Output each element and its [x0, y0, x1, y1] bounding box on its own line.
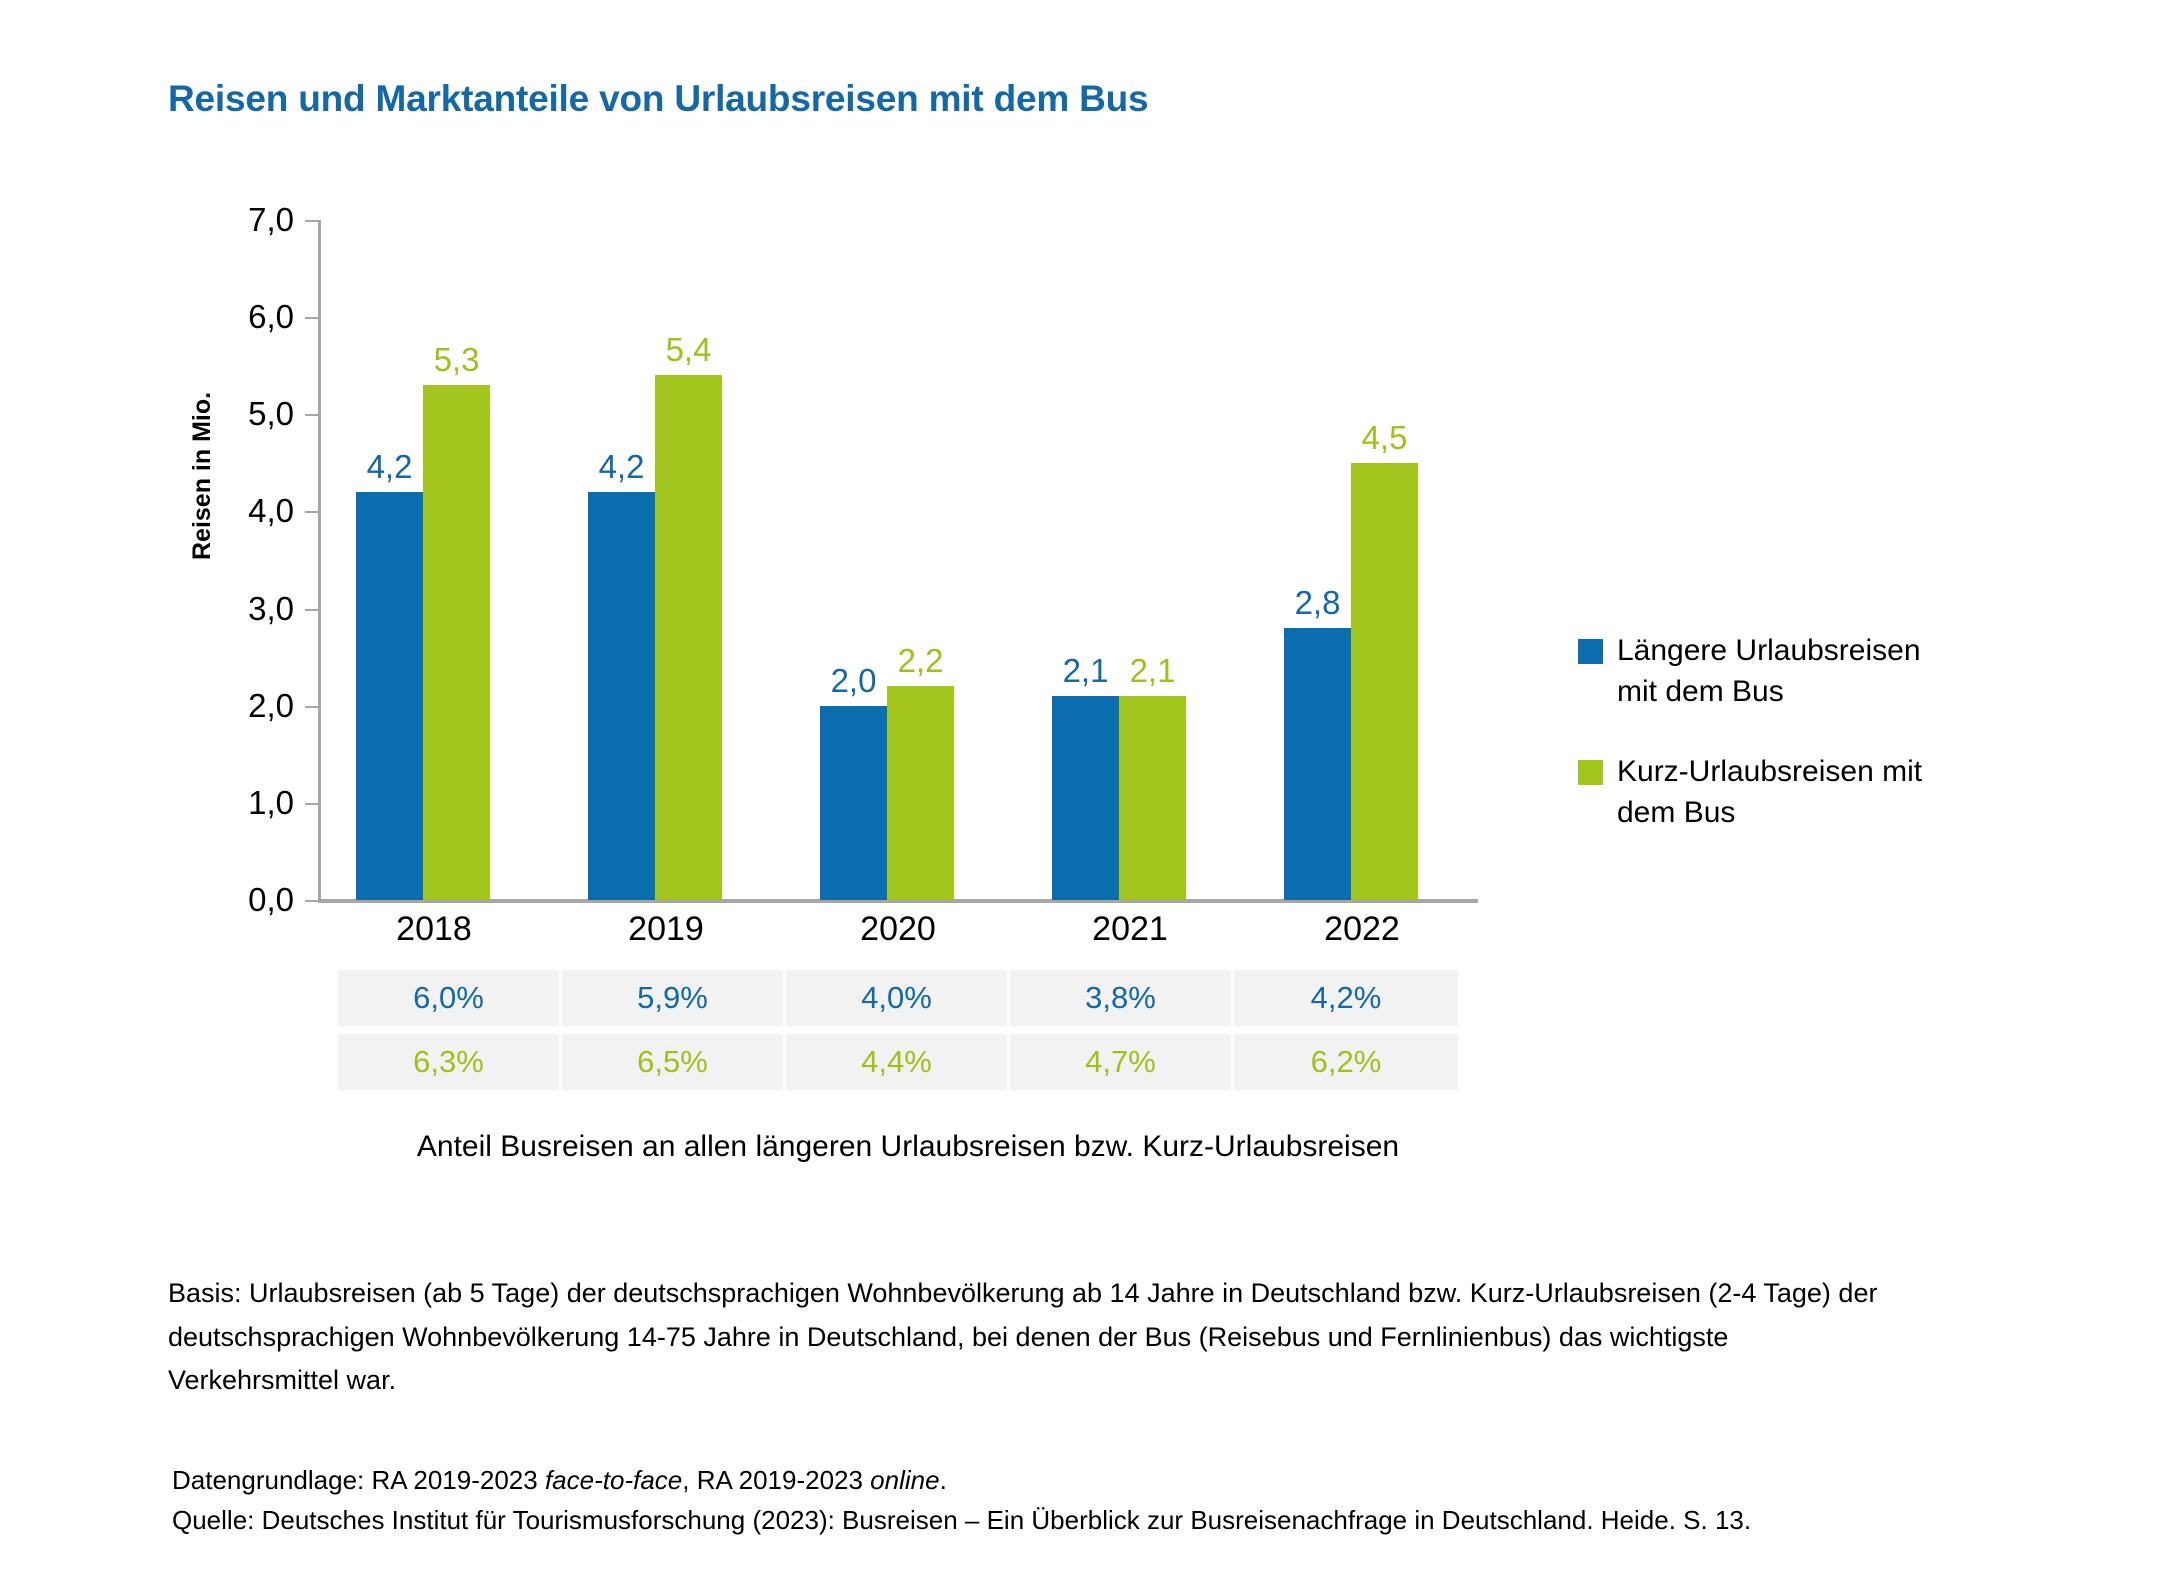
datengrundlage-mid: , RA 2019-2023 — [682, 1465, 870, 1495]
bar-value-label: 2,1 — [1119, 652, 1186, 690]
bar-value-label: 5,4 — [655, 331, 722, 369]
x-axis-label: 2018 — [318, 910, 550, 949]
table-row: 6,0%5,9%4,0%3,8%4,2% — [338, 970, 1458, 1026]
datengrundlage-prefix: Datengrundlage: RA 2019-2023 — [172, 1465, 545, 1495]
tick-mark — [305, 511, 318, 513]
bar[interactable]: 2,1 — [1052, 696, 1119, 900]
bar[interactable]: 2,2 — [887, 686, 954, 900]
chart-page: Reisen und Marktanteile von Urlaubsreise… — [0, 0, 2159, 1576]
legend-swatch-green-icon — [1578, 760, 1603, 785]
y-axis-tick-label: 7,0 — [248, 201, 294, 239]
legend-label-line-2: mit dem Bus — [1617, 671, 1921, 712]
tick-mark — [305, 414, 318, 416]
bar-value-label: 5,3 — [423, 341, 490, 379]
table-cell: 4,7% — [1010, 1034, 1234, 1090]
tick-mark — [305, 803, 318, 805]
bar-value-label: 2,8 — [1284, 584, 1351, 622]
legend-item[interactable]: Kurz-Urlaubsreisen mitdem Bus — [1578, 751, 1998, 834]
legend-label: Längere Urlaubsreisenmit dem Bus — [1617, 630, 1921, 713]
source-notes: Datengrundlage: RA 2019-2023 face-to-fac… — [172, 1460, 2072, 1541]
datengrundlage-italic-2: online — [870, 1465, 939, 1495]
y-axis-tick-label: 5,0 — [248, 395, 294, 433]
bar-value-label: 2,2 — [887, 642, 954, 680]
legend-label: Kurz-Urlaubsreisen mitdem Bus — [1617, 751, 1922, 834]
legend-label-line-1: Längere Urlaubsreisen — [1617, 630, 1921, 671]
datengrundlage-line: Datengrundlage: RA 2019-2023 face-to-fac… — [172, 1460, 2072, 1500]
tick-mark — [305, 220, 318, 222]
table-cell: 5,9% — [562, 970, 786, 1026]
bar[interactable]: 5,4 — [655, 375, 722, 900]
bar-group: 2,12,1 — [1014, 220, 1246, 900]
tick-mark — [305, 317, 318, 319]
legend-item[interactable]: Längere Urlaubsreisenmit dem Bus — [1578, 630, 1998, 713]
tick-mark — [305, 609, 318, 611]
table-row: 6,3%6,5%4,4%4,7%6,2% — [338, 1034, 1458, 1090]
table-caption: Anteil Busreisen an allen längeren Urlau… — [318, 1130, 1498, 1164]
table-cell: 4,4% — [786, 1034, 1010, 1090]
table-cell: 6,0% — [338, 970, 562, 1026]
page-title: Reisen und Marktanteile von Urlaubsreise… — [168, 78, 1148, 120]
bar[interactable]: 5,3 — [423, 385, 490, 900]
legend-label-line-1: Kurz-Urlaubsreisen mit — [1617, 751, 1922, 792]
x-axis-label: 2019 — [550, 910, 782, 949]
bar-group: 2,84,5 — [1246, 220, 1478, 900]
y-axis-tick-label: 1,0 — [248, 784, 294, 822]
chart-legend: Längere Urlaubsreisenmit dem BusKurz-Url… — [1578, 630, 1998, 872]
y-axis-title: Reisen in Mio. — [188, 392, 217, 560]
y-axis-tick-label: 2,0 — [248, 687, 294, 725]
bar-group: 4,25,4 — [550, 220, 782, 900]
bar-value-label: 2,1 — [1052, 652, 1119, 690]
basis-note: Basis: Urlaubsreisen (ab 5 Tage) der deu… — [168, 1272, 1888, 1403]
x-axis-label: 2020 — [782, 910, 1014, 949]
bar[interactable]: 2,1 — [1119, 696, 1186, 900]
table-cell: 4,0% — [786, 970, 1010, 1026]
table-cell: 6,3% — [338, 1034, 562, 1090]
table-cell: 3,8% — [1010, 970, 1234, 1026]
x-axis-label: 2021 — [1014, 910, 1246, 949]
bar-group: 2,02,2 — [782, 220, 1014, 900]
bar[interactable]: 2,0 — [820, 706, 887, 900]
tick-mark — [305, 706, 318, 708]
datengrundlage-italic-1: face-to-face — [545, 1465, 682, 1495]
table-cell: 4,2% — [1234, 970, 1458, 1026]
bar[interactable]: 4,2 — [356, 492, 423, 900]
bar[interactable]: 4,2 — [588, 492, 655, 900]
x-axis-label: 2022 — [1246, 910, 1478, 949]
market-share-table: 6,0%5,9%4,0%3,8%4,2%6,3%6,5%4,4%4,7%6,2% — [338, 970, 1458, 1098]
y-axis-tick-label: 3,0 — [248, 590, 294, 628]
y-axis-tick-label: 4,0 — [248, 492, 294, 530]
y-axis-tick-label: 0,0 — [248, 881, 294, 919]
quelle-line: Quelle: Deutsches Institut für Tourismus… — [172, 1500, 2072, 1540]
bar[interactable]: 4,5 — [1351, 463, 1418, 900]
datengrundlage-suffix: . — [940, 1465, 947, 1495]
bar-group: 4,25,3 — [318, 220, 550, 900]
bar-value-label: 4,5 — [1351, 419, 1418, 457]
y-axis-tick-label: 6,0 — [248, 298, 294, 336]
bar-value-label: 4,2 — [356, 448, 423, 486]
bar[interactable]: 2,8 — [1284, 628, 1351, 900]
bar-value-label: 4,2 — [588, 448, 655, 486]
legend-label-line-2: dem Bus — [1617, 792, 1922, 833]
table-cell: 6,5% — [562, 1034, 786, 1090]
tick-mark — [305, 900, 318, 902]
bar-value-label: 2,0 — [820, 662, 887, 700]
legend-swatch-blue-icon — [1578, 639, 1603, 664]
x-axis-category-labels: 20182019202020212022 — [318, 910, 1478, 962]
table-cell: 6,2% — [1234, 1034, 1458, 1090]
plot-area: 7,06,05,04,03,02,01,00,0 4,25,34,25,42,0… — [318, 220, 1478, 900]
